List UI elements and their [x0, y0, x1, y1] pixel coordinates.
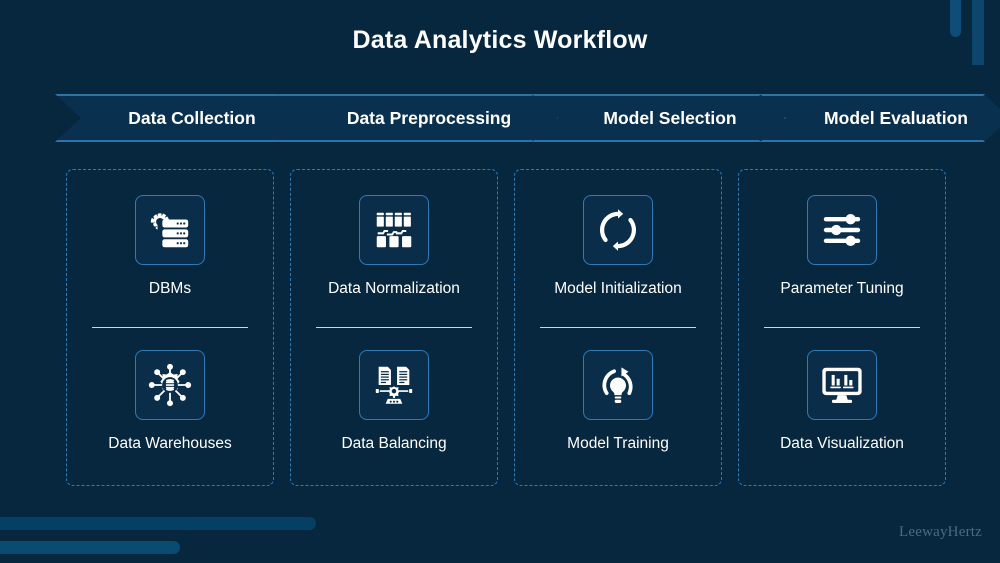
card-item-label: Data Visualization	[774, 435, 910, 454]
card-model-evaluation: Parameter Tuning	[738, 169, 946, 486]
data-warehouse-hub-icon	[135, 350, 205, 420]
page-title: Data Analytics Workflow	[0, 26, 1000, 55]
card-item-label: Model Training	[561, 435, 675, 454]
sliders-icon	[807, 195, 877, 265]
card-cell-data-warehouses[interactable]: Data Warehouses	[67, 328, 273, 485]
card-item-label: DBMs	[143, 280, 197, 299]
card-cell-data-normalization[interactable]: Data Normalization	[291, 170, 497, 327]
balance-scale-documents-icon	[359, 350, 429, 420]
step-chevron-model-selection[interactable]: Model Selection	[532, 94, 786, 142]
card-item-label: Parameter Tuning	[774, 280, 909, 299]
card-cell-model-training[interactable]: Model Training	[515, 328, 721, 485]
step-chevron-model-evaluation[interactable]: Model Evaluation	[760, 94, 1000, 142]
card-data-preprocessing: Data Normalization	[290, 169, 498, 486]
card-cell-data-balancing[interactable]: Data Balancing	[291, 328, 497, 485]
workflow-step-bar: Data Collection Data Preprocessing Model…	[55, 94, 955, 142]
normalization-bars-icon	[359, 195, 429, 265]
refresh-cycle-icon	[583, 195, 653, 265]
step-label: Data Collection	[128, 108, 255, 129]
step-chevron-data-preprocessing[interactable]: Data Preprocessing	[277, 94, 559, 142]
step-label: Model Evaluation	[824, 108, 968, 129]
step-label: Data Preprocessing	[347, 108, 511, 129]
card-data-collection: DBMs	[66, 169, 274, 486]
card-item-label: Data Warehouses	[102, 435, 238, 454]
card-cell-model-initialization[interactable]: Model Initialization	[515, 170, 721, 327]
monitor-bar-chart-icon	[807, 350, 877, 420]
card-model-selection: Model Initialization Mo	[514, 169, 722, 486]
step-label: Model Selection	[603, 108, 736, 129]
lightbulb-cycle-icon	[583, 350, 653, 420]
workflow-card-grid: DBMs	[66, 169, 946, 486]
slide-canvas: Data Analytics Workflow Data Collection …	[0, 0, 1000, 563]
card-cell-parameter-tuning[interactable]: Parameter Tuning	[739, 170, 945, 327]
decor-horizontal-bar-1	[0, 517, 316, 530]
card-item-label: Data Balancing	[335, 435, 452, 454]
card-cell-dbms[interactable]: DBMs	[67, 170, 273, 327]
decor-horizontal-bar-2	[0, 541, 180, 554]
watermark-leewayhertz: LeewayHertz	[899, 524, 982, 541]
card-cell-data-visualization[interactable]: Data Visualization	[739, 328, 945, 485]
card-item-label: Model Initialization	[548, 280, 688, 299]
card-item-label: Data Normalization	[322, 280, 466, 299]
step-chevron-data-collection[interactable]: Data Collection	[55, 94, 307, 142]
database-gear-icon	[135, 195, 205, 265]
